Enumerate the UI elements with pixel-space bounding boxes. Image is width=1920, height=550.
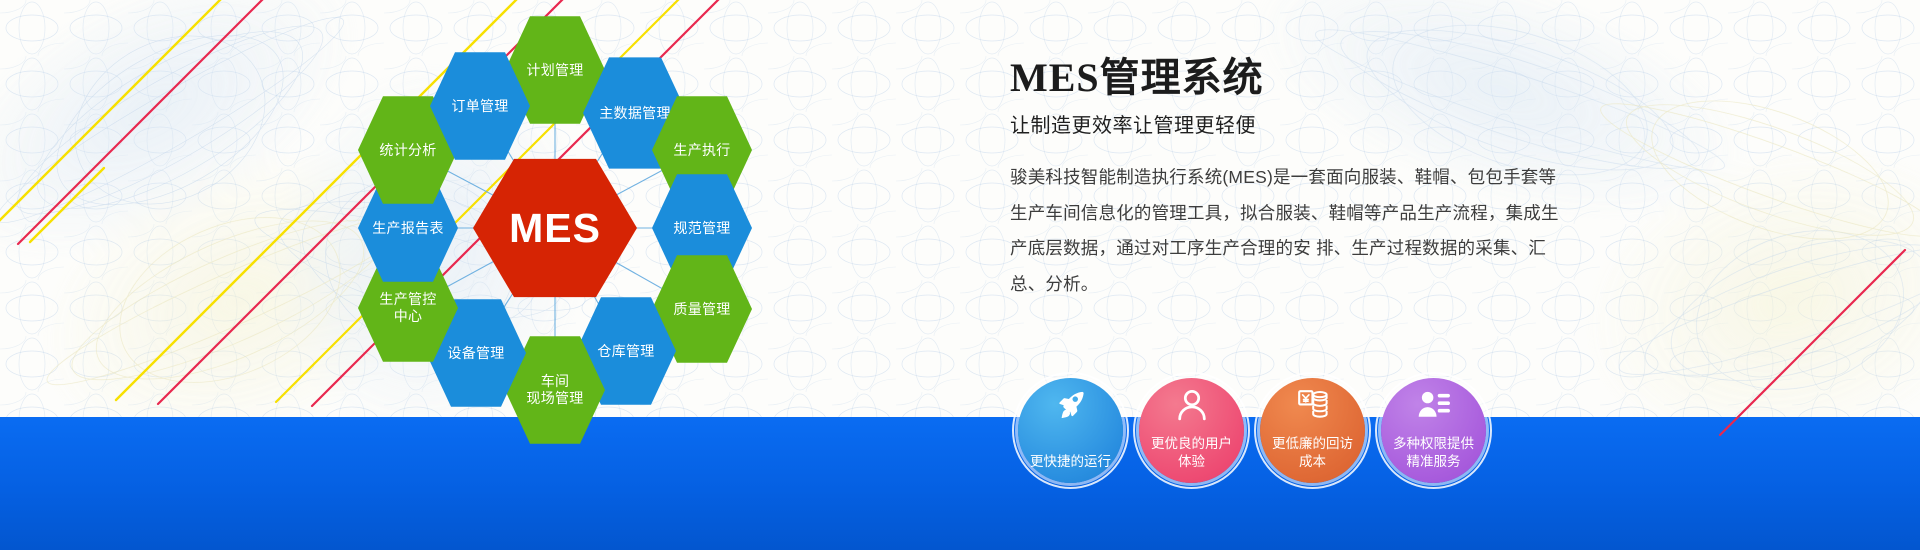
feature-badge-2[interactable]: 更优良的用户体验 [1139, 378, 1244, 483]
diagonal-accent-lines [0, 0, 1920, 550]
badge-label: 更快捷的运行 [1030, 453, 1111, 471]
banner-text-column: MES管理系统 让制造更效率让管理更轻便 骏美科技智能制造执行系统(MES)是一… [1010, 55, 1600, 302]
hex-node-label: 生产执行 [673, 142, 730, 159]
page-title: MES管理系统 [1010, 55, 1600, 101]
hex-node-label: 统计分析 [379, 142, 436, 159]
hex-node-label: 质量管理 [673, 301, 730, 318]
banner-stage: MES计划管理主数据管理生产执行规范管理质量管理仓库管理车间现场管理设备管理生产… [0, 0, 1920, 550]
badge-label: 更低廉的回访成本 [1272, 435, 1353, 471]
user-list-icon [1417, 388, 1451, 422]
hex-node-label: 生产报告表 [372, 220, 444, 237]
feature-badge-1[interactable]: 更快捷的运行 [1018, 378, 1123, 483]
hex-node-label: 计划管理 [526, 62, 583, 79]
hex-node-label: 生产管控中心 [379, 291, 436, 324]
hex-node-label: MES [509, 204, 601, 252]
hex-node-label: 仓库管理 [597, 343, 654, 360]
badge-label: 更优良的用户体验 [1151, 435, 1232, 471]
hex-node-label: 设备管理 [447, 345, 504, 362]
hex-node-label: 规范管理 [673, 220, 730, 237]
money-stack-icon [1296, 388, 1330, 422]
intro-paragraph: 骏美科技智能制造执行系统(MES)是一套面向服装、鞋帽、包包手套等生产车间信息化… [1010, 160, 1570, 302]
page-subtitle: 让制造更效率让管理更轻便 [1010, 109, 1600, 138]
user-icon [1175, 388, 1209, 422]
rocket-icon [1054, 388, 1088, 422]
hex-node-label: 车间现场管理 [526, 373, 583, 406]
hex-node-label: 主数据管理 [599, 105, 671, 122]
mes-hex-diagram: MES计划管理主数据管理生产执行规范管理质量管理仓库管理车间现场管理设备管理生产… [330, 0, 800, 450]
feature-badge-4[interactable]: 多种权限提供精准服务 [1381, 378, 1486, 483]
badge-label: 多种权限提供精准服务 [1393, 435, 1474, 471]
feature-badge-list: 更快捷的运行更优良的用户体验更低廉的回访成本多种权限提供精准服务 [1018, 378, 1486, 483]
feature-badge-3[interactable]: 更低廉的回访成本 [1260, 378, 1365, 483]
hex-node-label: 订单管理 [451, 98, 508, 115]
